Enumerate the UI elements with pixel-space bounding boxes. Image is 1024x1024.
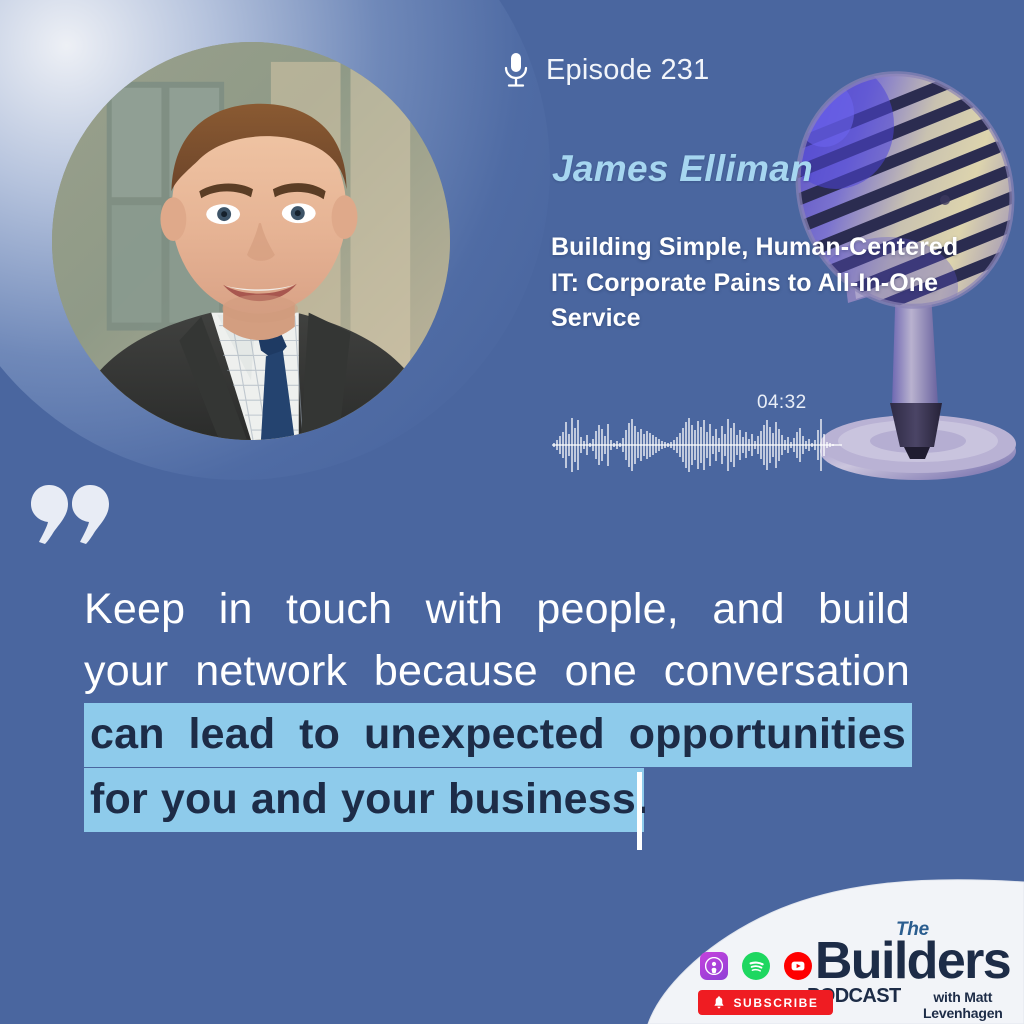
quote-line-1: Keepintouchwithpeople,andbuild bbox=[84, 578, 910, 640]
bell-icon bbox=[712, 996, 726, 1010]
guest-name: James Elliman bbox=[552, 148, 813, 190]
quote-line-2: yournetworkbecauseoneconversation bbox=[84, 640, 910, 702]
quote-word: because bbox=[374, 640, 538, 702]
subscribe-label: SUBSCRIBE bbox=[733, 996, 818, 1010]
episode-row: Episode 231 bbox=[502, 51, 709, 89]
quote-word: Keep bbox=[84, 578, 185, 640]
apple-podcasts-icon[interactable] bbox=[700, 952, 728, 980]
quote-word: to bbox=[299, 709, 340, 759]
avatar bbox=[52, 42, 450, 440]
quote-word: with bbox=[426, 578, 503, 640]
pull-quote: Keepintouchwithpeople,andbuild yournetwo… bbox=[84, 578, 912, 832]
microphone-icon bbox=[502, 51, 530, 89]
social-links bbox=[700, 952, 812, 980]
quote-word: network bbox=[195, 640, 347, 702]
guest-portrait bbox=[52, 42, 450, 440]
quote-word: opportunities bbox=[629, 709, 906, 759]
quote-word: one bbox=[565, 640, 637, 702]
quote-word: in bbox=[219, 578, 253, 640]
quote-line-3-wrap: canleadtounexpectedopportunities bbox=[84, 703, 912, 767]
quote-word: touch bbox=[286, 578, 392, 640]
brand-subtitle-row: PODCAST with Matt Levenhagen bbox=[805, 985, 1020, 1021]
apple-podcasts-glyph bbox=[705, 957, 723, 975]
text-caret bbox=[637, 772, 642, 850]
quote-line-3-highlight: canleadtounexpectedopportunities bbox=[84, 703, 912, 767]
quote-word: lead bbox=[189, 709, 276, 759]
quote-word: your bbox=[341, 774, 435, 824]
spotify-icon[interactable] bbox=[742, 952, 770, 980]
quote-word: build bbox=[818, 578, 910, 640]
subscribe-button[interactable]: SUBSCRIBE bbox=[698, 990, 833, 1015]
quote-word: business. bbox=[448, 774, 648, 824]
quote-word: your bbox=[84, 640, 168, 702]
audio-waveform bbox=[552, 410, 842, 480]
quote-word: and bbox=[251, 774, 328, 824]
quote-line-4-wrap: foryouandyourbusiness. bbox=[84, 768, 912, 832]
episode-title: Building Simple, Human-Centered IT: Corp… bbox=[551, 230, 976, 337]
episode-number-label: Episode 231 bbox=[546, 54, 709, 87]
quote-line-4-highlight: foryouandyourbusiness. bbox=[84, 768, 644, 832]
brand-host-label: with Matt Levenhagen bbox=[906, 989, 1020, 1021]
quote-word: conversation bbox=[664, 640, 910, 702]
brand-the-label: The bbox=[896, 919, 929, 941]
quote-word: and bbox=[712, 578, 784, 640]
quote-word: unexpected bbox=[364, 709, 605, 759]
quote-word: people, bbox=[536, 578, 678, 640]
youtube-glyph bbox=[789, 957, 807, 975]
podcast-promo-card: Episode 231 bbox=[0, 0, 1024, 1024]
spotify-glyph bbox=[747, 957, 766, 976]
double-quote-glyph bbox=[28, 483, 112, 545]
quote-word: for bbox=[90, 774, 148, 824]
youtube-icon[interactable] bbox=[784, 952, 812, 980]
podcast-branding: The Builders PODCAST with Matt Levenhage… bbox=[805, 918, 1020, 1024]
brand-title: Builders bbox=[805, 934, 1020, 988]
waveform-bars bbox=[552, 410, 842, 480]
quote-word: you bbox=[161, 774, 238, 824]
quote-mark-icon bbox=[28, 483, 112, 545]
quote-word: can bbox=[90, 709, 165, 759]
